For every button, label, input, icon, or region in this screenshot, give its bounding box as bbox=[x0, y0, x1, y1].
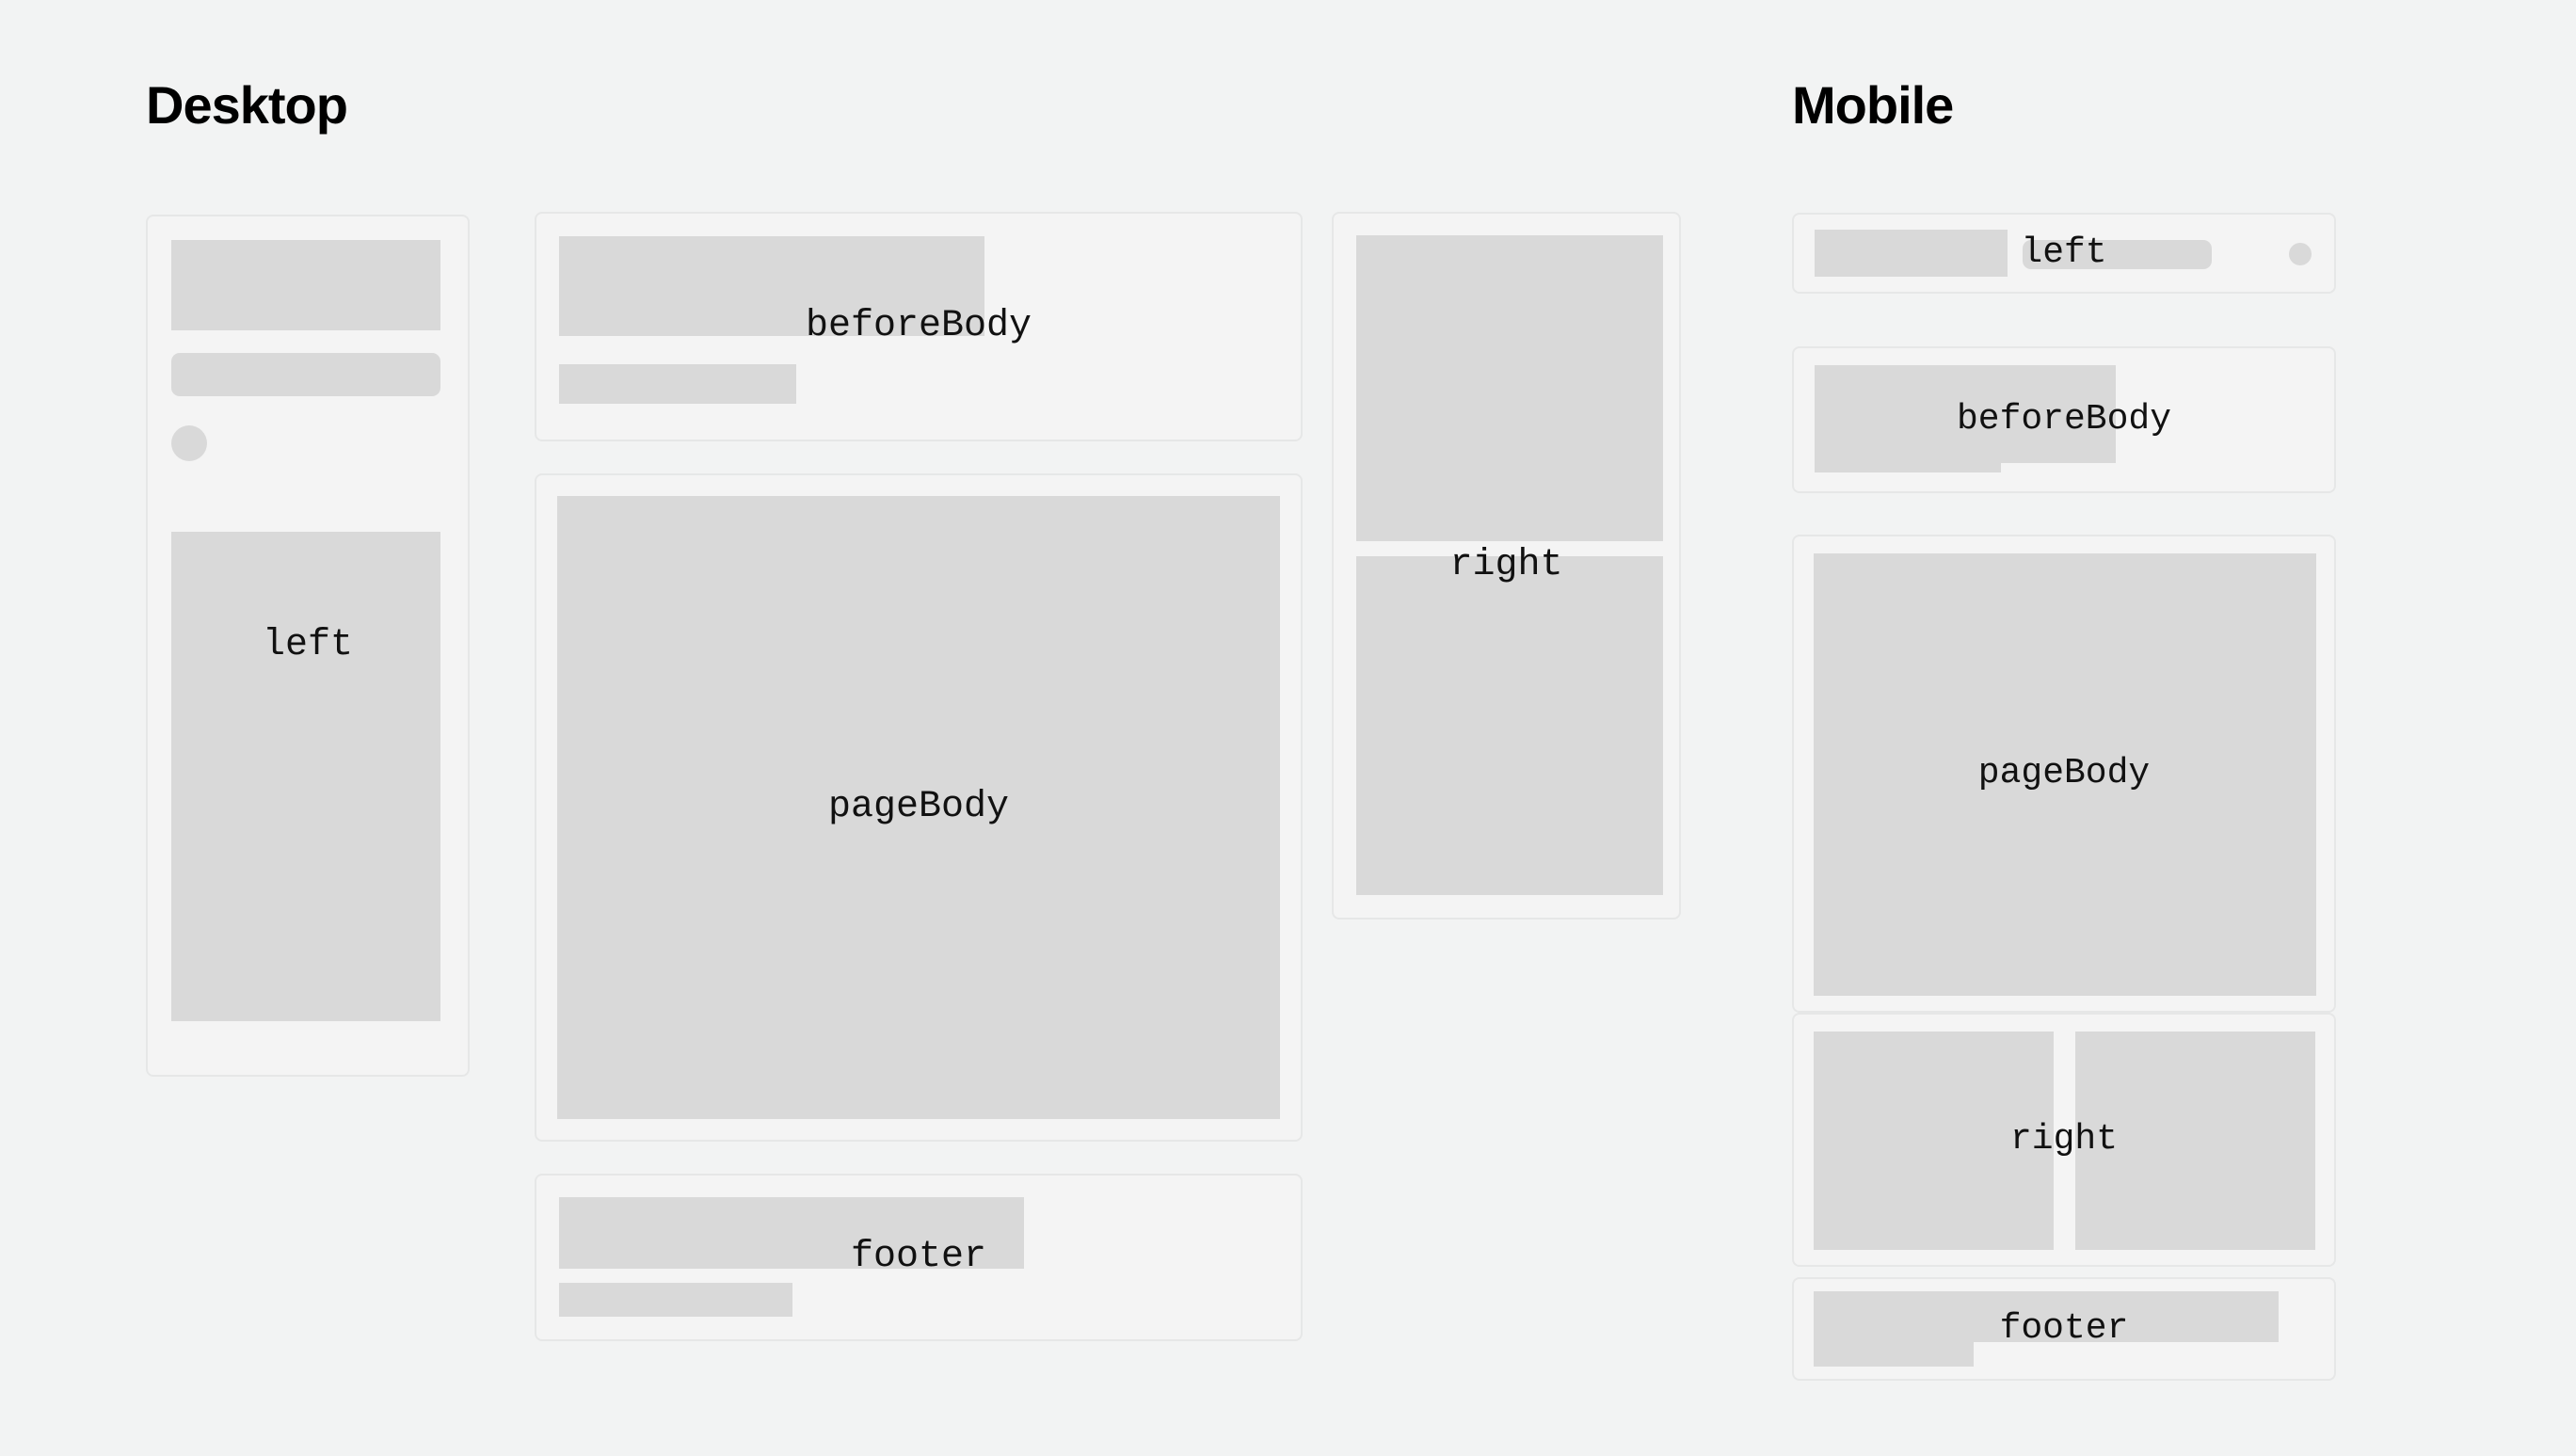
layout-preview-canvas: Desktop left beforeBody pageBody footer … bbox=[0, 0, 2576, 1456]
desktop-before-body-block-primary bbox=[559, 236, 984, 336]
mobile-before-body-slot-panel[interactable]: beforeBody bbox=[1792, 346, 2336, 493]
desktop-right-slot-panel[interactable]: right bbox=[1332, 212, 1681, 920]
desktop-left-block-tall bbox=[171, 532, 440, 1021]
mobile-before-body-block-secondary bbox=[1815, 440, 2001, 472]
desktop-page-body-block bbox=[557, 496, 1280, 1119]
desktop-before-body-slot-panel[interactable]: beforeBody bbox=[535, 212, 1303, 441]
desktop-footer-block-secondary bbox=[559, 1283, 792, 1317]
mobile-left-block-primary bbox=[1815, 230, 2008, 277]
mobile-page-body-block bbox=[1814, 553, 2316, 996]
desktop-right-block-top bbox=[1356, 235, 1663, 541]
desktop-left-avatar-circle bbox=[171, 425, 207, 461]
mobile-left-block-bar bbox=[2023, 240, 2212, 269]
mobile-left-slot-panel[interactable]: left bbox=[1792, 213, 2336, 294]
mobile-left-avatar-circle bbox=[2289, 243, 2312, 265]
mobile-section-title: Mobile bbox=[1792, 79, 1953, 132]
mobile-page-body-slot-panel[interactable]: pageBody bbox=[1792, 535, 2336, 1013]
desktop-section-title: Desktop bbox=[146, 79, 347, 132]
mobile-right-block-right bbox=[2075, 1032, 2315, 1250]
mobile-right-block-left bbox=[1814, 1032, 2054, 1250]
desktop-left-block-primary bbox=[171, 240, 440, 330]
mobile-footer-slot-panel[interactable]: footer bbox=[1792, 1277, 2336, 1381]
desktop-page-body-slot-panel[interactable]: pageBody bbox=[535, 473, 1303, 1142]
desktop-left-block-bar bbox=[171, 353, 440, 396]
desktop-footer-block-primary bbox=[559, 1197, 1024, 1269]
desktop-right-block-bottom bbox=[1356, 556, 1663, 895]
mobile-footer-block-primary bbox=[1814, 1291, 2279, 1342]
desktop-footer-slot-panel[interactable]: footer bbox=[535, 1174, 1303, 1341]
desktop-before-body-block-secondary bbox=[559, 364, 796, 404]
mobile-right-slot-panel[interactable]: right bbox=[1792, 1013, 2336, 1267]
desktop-left-slot-panel[interactable]: left bbox=[146, 215, 470, 1077]
mobile-footer-block-secondary bbox=[1814, 1340, 1974, 1367]
